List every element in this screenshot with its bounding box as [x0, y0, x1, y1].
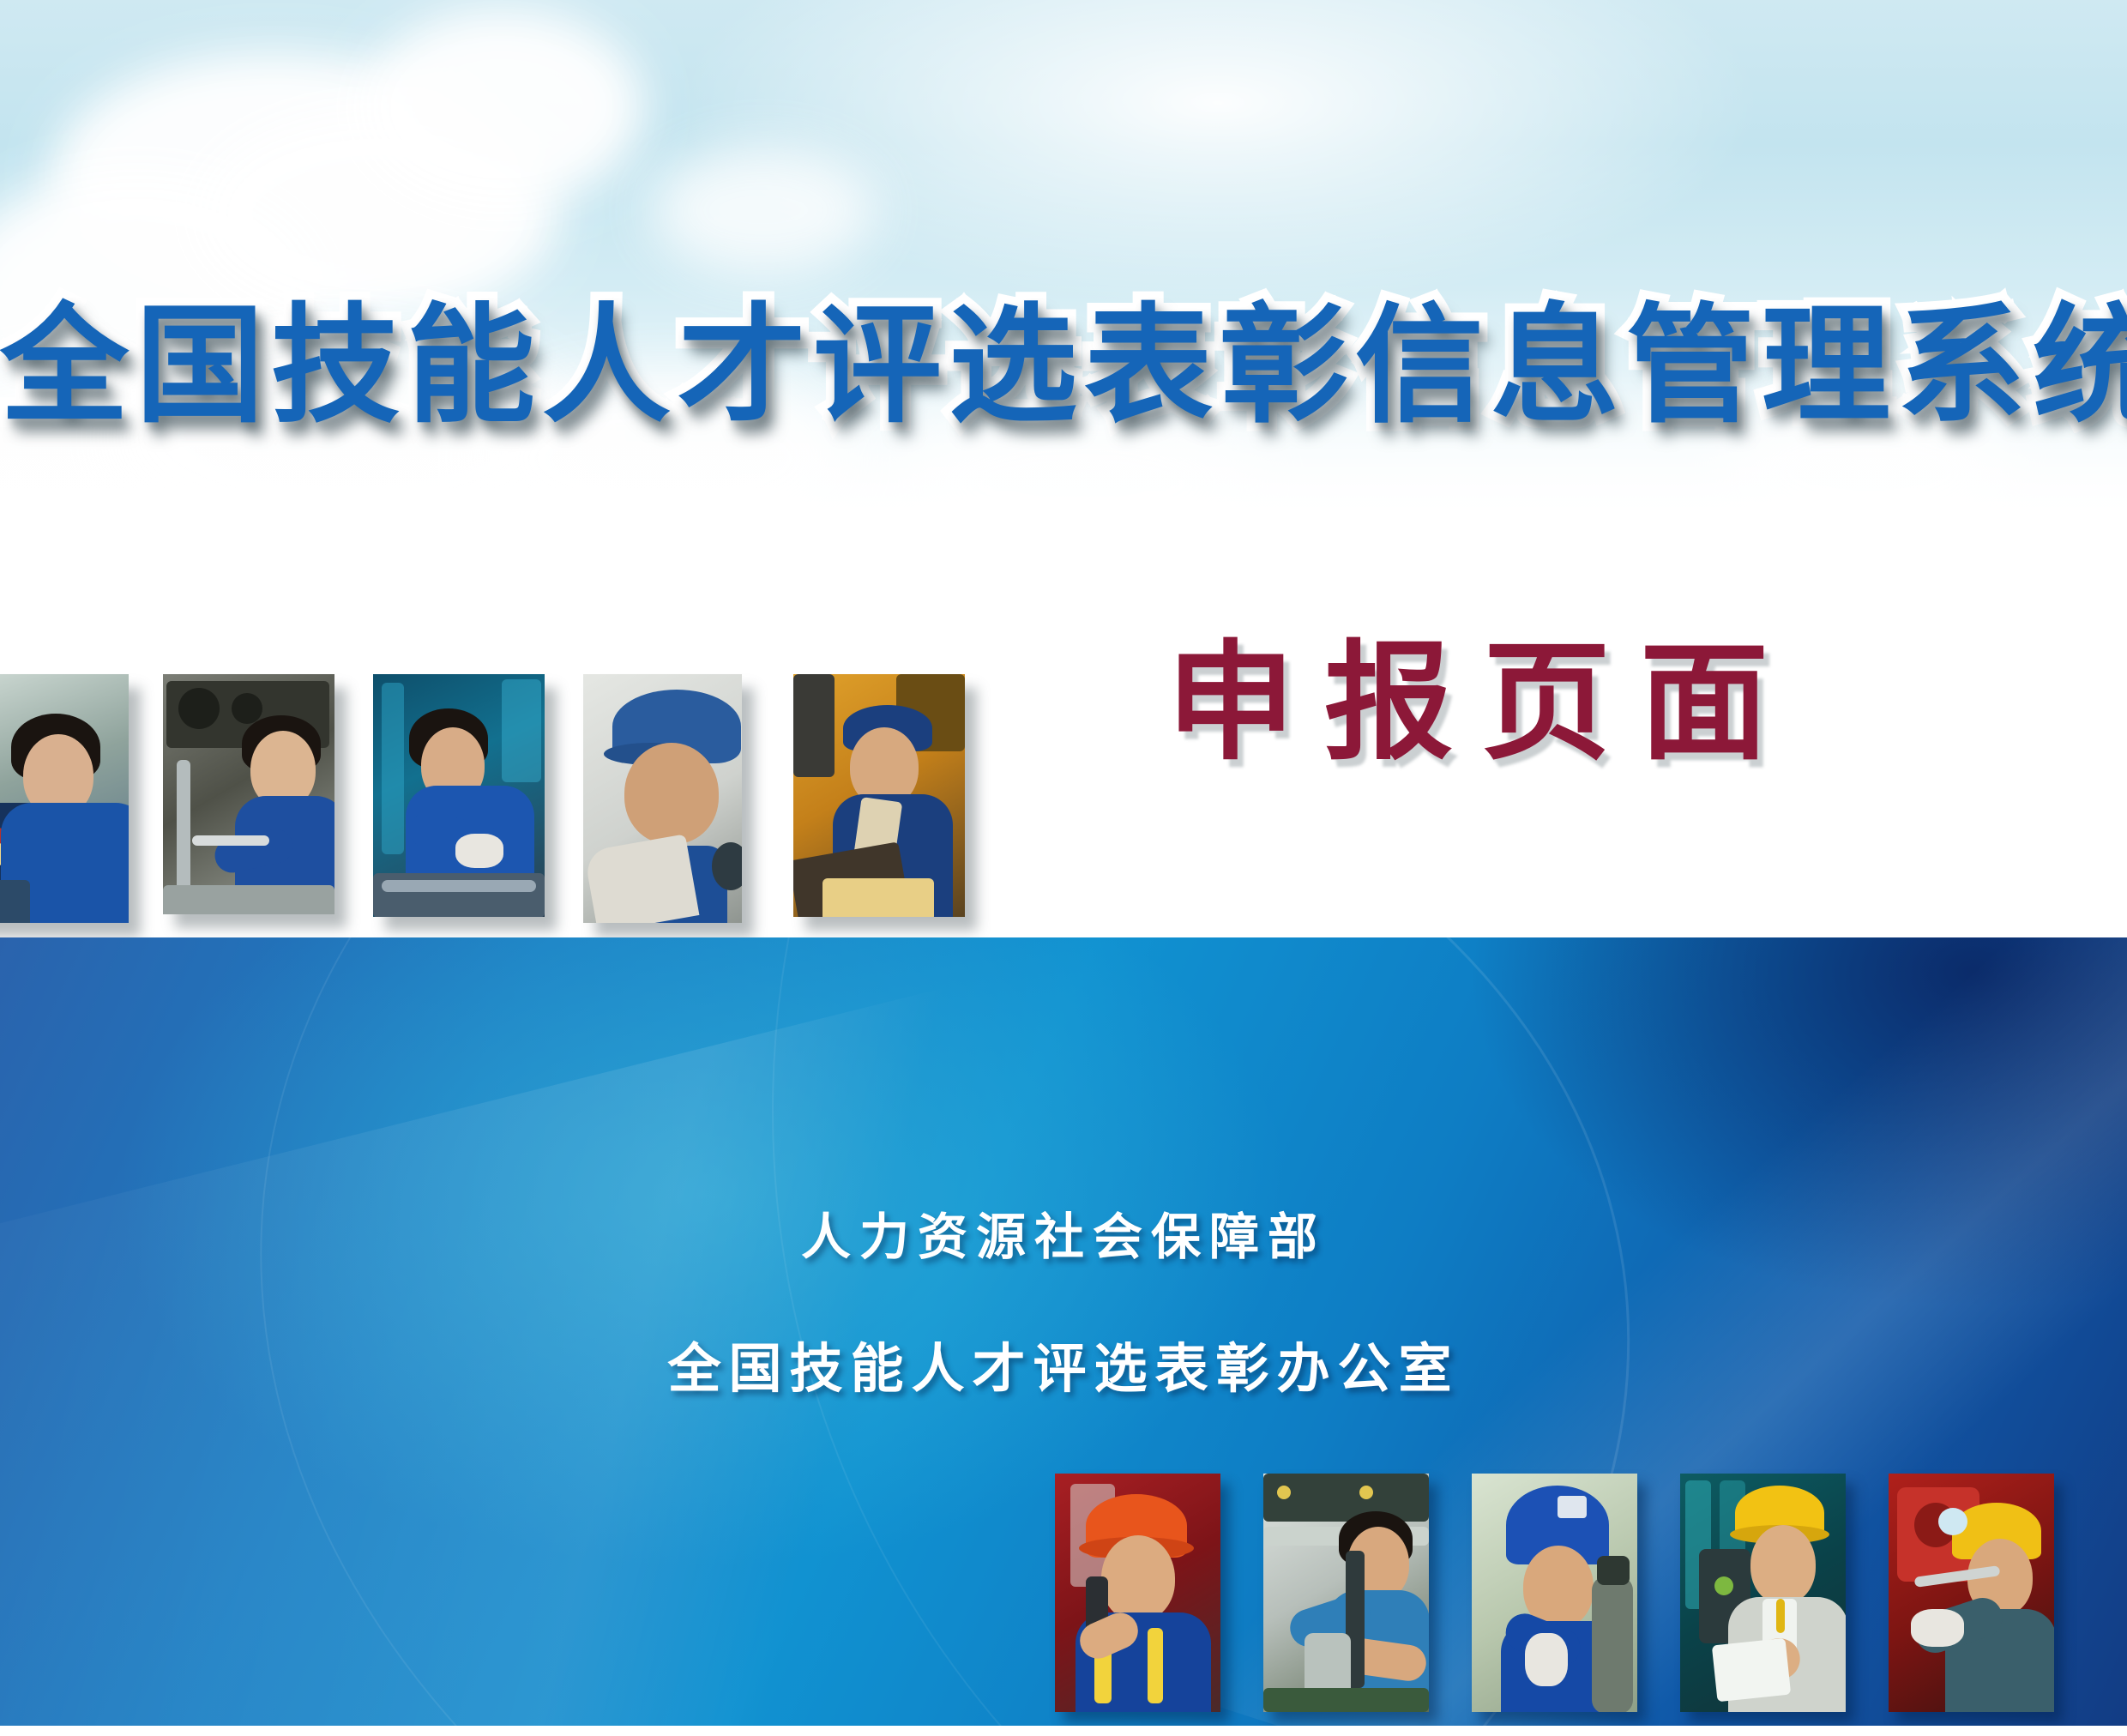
page-title: 全国技能人才评选表彰信息管理系统 — [0, 302, 2127, 431]
worker-photo — [1680, 1474, 1846, 1712]
worker-photo — [163, 674, 334, 914]
worker-photo — [1472, 1474, 1637, 1712]
worker-photo — [1263, 1474, 1429, 1712]
cloud-shape — [652, 146, 875, 274]
worker-photo — [793, 674, 965, 917]
worker-photo — [1055, 1474, 1220, 1712]
bottom-white-edge — [0, 1726, 2127, 1736]
photo-strip-bottom — [1055, 1474, 2127, 1731]
worker-photo — [0, 674, 129, 923]
organization-office: 全国技能人才评选表彰办公室 — [0, 1325, 2127, 1402]
worker-photo — [373, 674, 545, 917]
organization-name: 人力资源社会保障部 — [0, 1197, 2127, 1269]
presentation-slide: 全国技能人才评选表彰信息管理系统 申报页面 — [0, 0, 2127, 1736]
worker-photo — [1889, 1474, 2054, 1712]
section-title: 申报页面 — [1166, 639, 1798, 768]
photo-strip-top — [0, 674, 1029, 940]
cloud-shape — [360, 9, 643, 206]
worker-photo — [583, 674, 742, 923]
